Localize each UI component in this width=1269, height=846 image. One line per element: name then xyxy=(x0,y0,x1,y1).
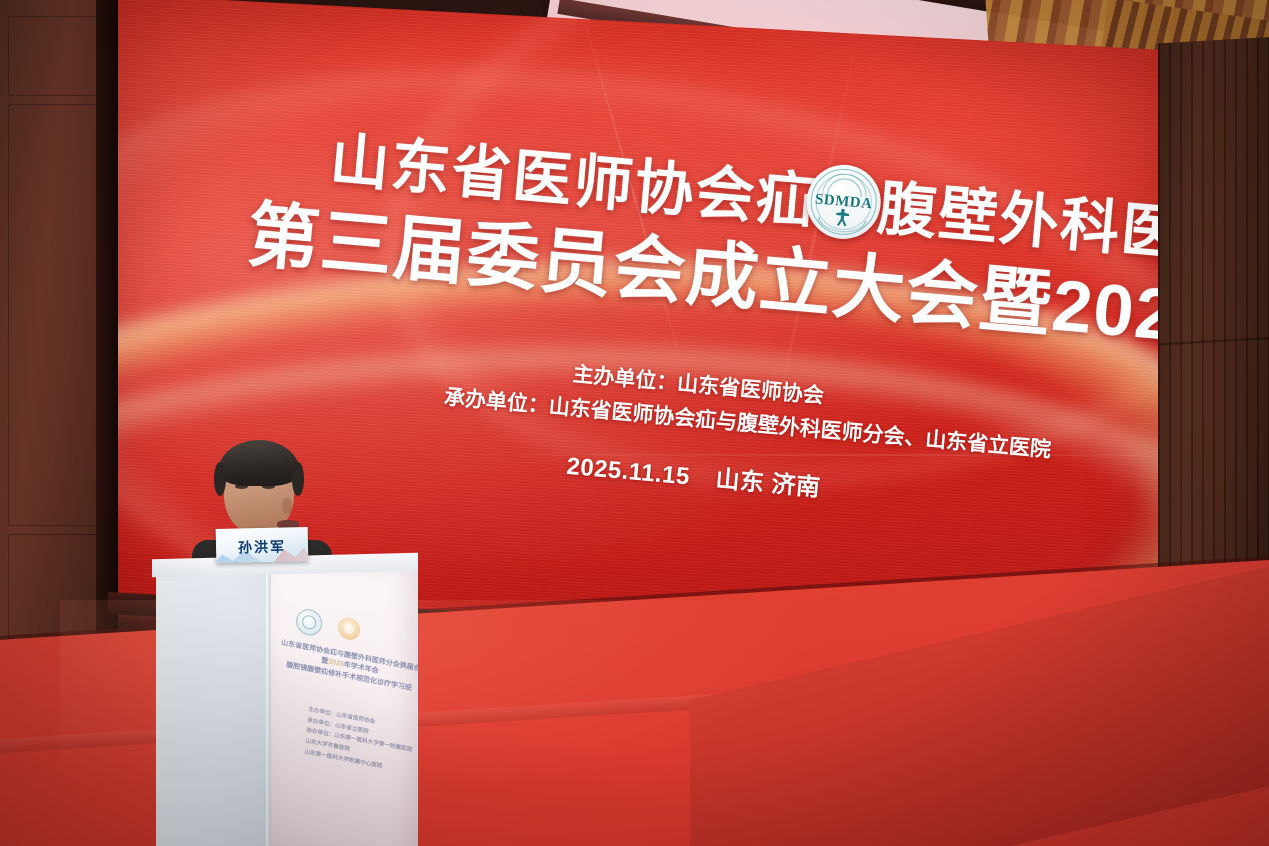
podium-line2-year: 2025 xyxy=(328,659,344,669)
podium-hospital-sunburst-icon xyxy=(337,616,361,642)
banner-location: 山东 济南 xyxy=(714,466,821,502)
podium-title-block: 山东省医师协会疝与腹壁外科医师分会换届会议 暨2025年学术年会 腹腔镜腹壁疝修… xyxy=(279,638,418,695)
podium-association-seal-icon xyxy=(295,607,323,637)
speaker-nameplate: 孙洪军 xyxy=(216,527,309,563)
conference-photo-scene: 山东省医师协会疝与腹壁外科医师分会 第三届委员会成立大会暨2025年学术会议 S… xyxy=(0,0,1269,846)
wall-panel-seam-1 xyxy=(8,16,106,96)
podium-left-side xyxy=(156,564,272,846)
banner-date-location: 2025.11.15山东 济南 xyxy=(565,446,822,503)
wall-panel-seam-2 xyxy=(8,104,106,526)
banner-date: 2025.11.15 xyxy=(565,453,690,491)
podium-corner-edge xyxy=(266,564,271,846)
speaker-hair xyxy=(218,440,300,486)
podium-front-panel: 山东省医师协会疝与腹壁外科医师分会换届会议 暨2025年学术年会 腹腔镜腹壁疝修… xyxy=(270,555,418,846)
podium-organizer-block: 主办单位：山东省医师协会 承办单位：山东省立医院 协办单位：山东第一医科大学第一… xyxy=(304,705,418,782)
nameplate-name-text: 孙洪军 xyxy=(216,536,308,558)
speaker-nose xyxy=(282,498,292,514)
podium: 山东省医师协会疝与腹壁外科医师分会换届会议 暨2025年学术年会 腹腔镜腹壁疝修… xyxy=(152,556,418,846)
